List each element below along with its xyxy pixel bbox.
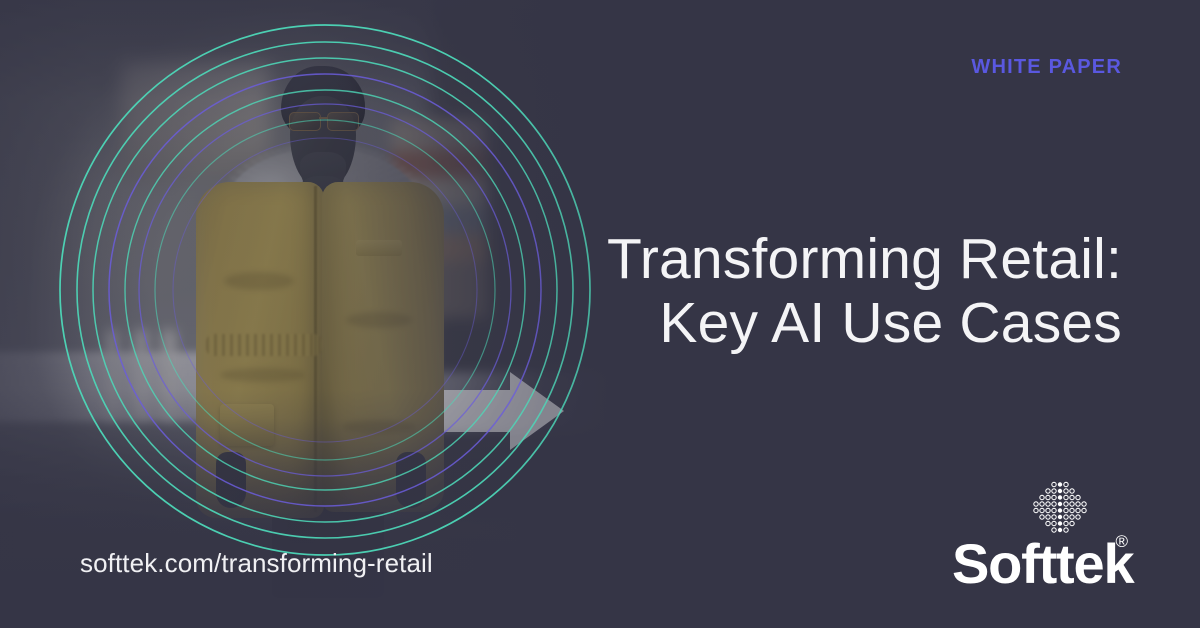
photo-gradient-fade bbox=[0, 0, 660, 628]
softtek-logo: Softtek ® bbox=[952, 480, 1128, 592]
page-title: Transforming Retail: Key AI Use Cases bbox=[562, 228, 1122, 356]
page-title-line-1: Transforming Retail: bbox=[562, 228, 1122, 292]
banner-canvas: WHITE PAPER Transforming Retail: Key AI … bbox=[0, 0, 1200, 628]
hero-photo bbox=[0, 0, 660, 628]
page-title-line-2: Key AI Use Cases bbox=[562, 292, 1122, 356]
softtek-wordmark: Softtek bbox=[952, 536, 1133, 592]
right-arrow-overlay bbox=[444, 372, 564, 450]
landing-page-url[interactable]: softtek.com/transforming-retail bbox=[80, 548, 433, 579]
eyebrow-label: WHITE PAPER bbox=[971, 56, 1122, 79]
softtek-dot-hexagon-mark bbox=[1030, 480, 1090, 538]
registered-trademark-symbol: ® bbox=[1115, 532, 1128, 552]
